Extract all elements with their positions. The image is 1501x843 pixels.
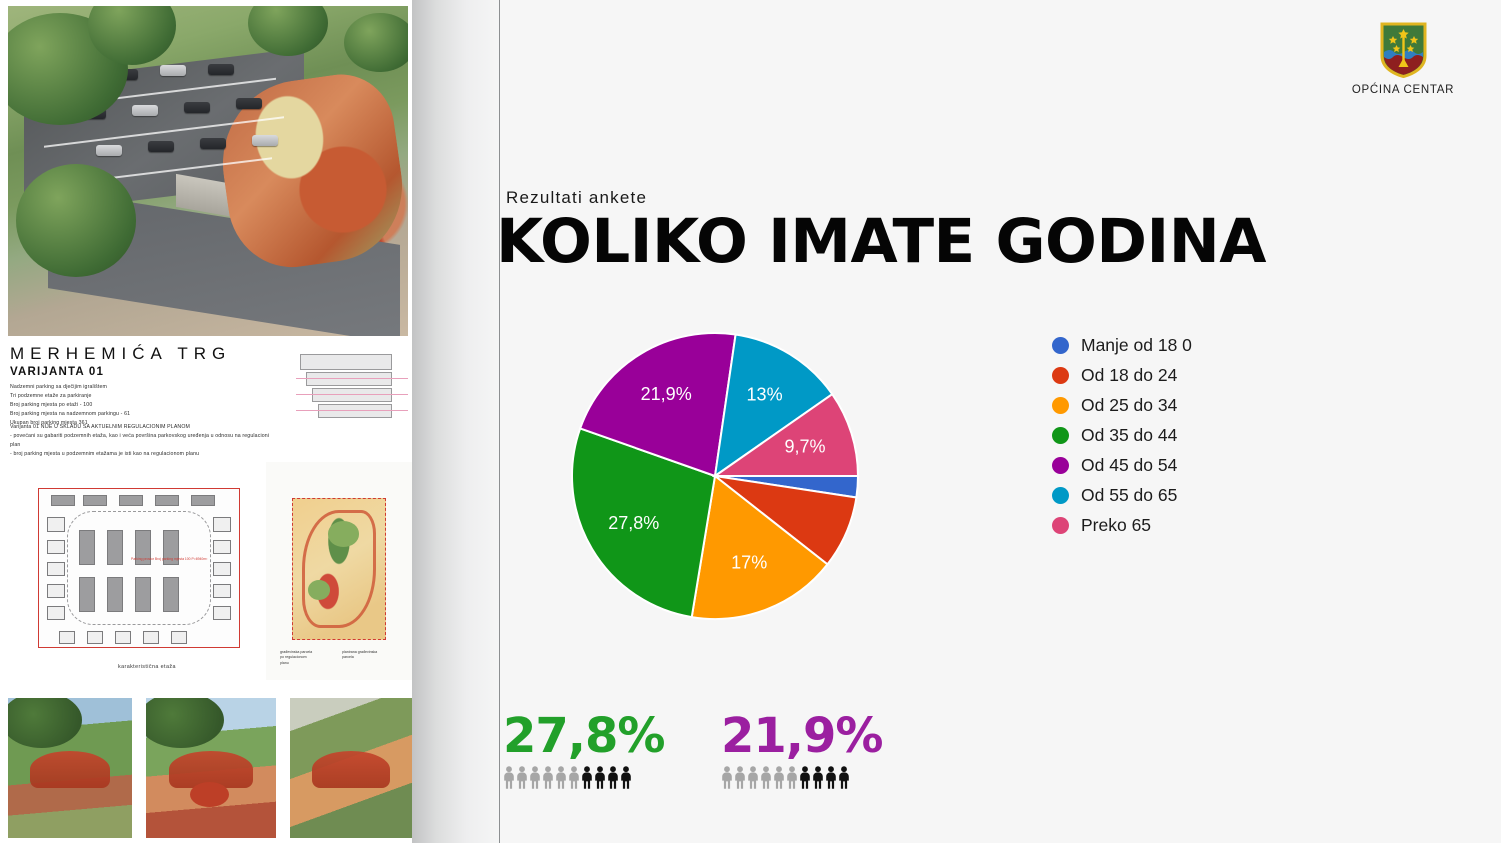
site-plan: građevinska parcela po regulacionom plan… <box>266 462 412 680</box>
car <box>184 102 210 113</box>
pictogram-person-empty <box>786 766 798 789</box>
legend-label: Od 35 do 44 <box>1081 425 1177 446</box>
document-subtitle: VARIJANTA 01 <box>10 366 104 378</box>
legend-color-swatch <box>1052 367 1069 384</box>
parking-stall <box>47 584 65 598</box>
green-area <box>308 580 330 600</box>
car <box>236 98 262 109</box>
playground-equipment <box>312 751 390 787</box>
green-area <box>328 521 359 546</box>
tree <box>16 164 136 276</box>
spec-line: Nadzemni parking sa dječijim igralištem <box>10 383 260 392</box>
parking-stall <box>107 530 123 565</box>
pictogram-person-empty <box>747 766 759 789</box>
legend-item-6[interactable]: Preko 65 <box>1052 510 1192 540</box>
car <box>252 135 278 146</box>
pictogram-person-empty <box>555 766 567 789</box>
spec-line: Broj parking mjesta na nadzemnom parking… <box>10 410 260 419</box>
parking-stall <box>79 530 95 565</box>
pie-slice-label: 27,8% <box>608 513 659 533</box>
parking-stall <box>191 495 215 506</box>
legend-label: Manje od 18 0 <box>1081 335 1192 356</box>
annotation-line <box>296 378 408 379</box>
parking-stall <box>47 517 65 531</box>
pictogram-person-empty <box>568 766 580 789</box>
pictogram-person-empty <box>503 766 515 789</box>
legend-label: Od 45 do 54 <box>1081 455 1177 476</box>
legend-label: Od 55 do 65 <box>1081 485 1177 506</box>
pictogram-person-empty <box>542 766 554 789</box>
legend-item-2[interactable]: Od 25 do 34 <box>1052 390 1192 420</box>
parking-stall <box>87 631 103 644</box>
parking-stall <box>213 584 231 598</box>
legend-label: Od 18 do 24 <box>1081 365 1177 386</box>
logo: OPĆINA CENTAR <box>1330 22 1476 96</box>
drawing-legend-item: planirana građevinska parcela <box>342 650 382 661</box>
parking-stall <box>79 577 95 612</box>
pictogram-person-empty <box>529 766 541 789</box>
pictogram-person-filled <box>838 766 850 789</box>
opcina-centar-coat-of-arms-icon <box>1380 22 1427 78</box>
document-note-block: Varijanta 01 NIJE U SKLADU SA AKTUELNIM … <box>10 423 272 459</box>
pie-slice-label: 13% <box>747 384 783 404</box>
document-preview-panel: MERHEMIĆA TRG VARIJANTA 01 Nadzemni park… <box>0 0 412 843</box>
pie-slice-label: 21,9% <box>641 384 692 404</box>
parking-stall <box>163 577 179 612</box>
parking-stall <box>213 540 231 554</box>
parking-stall <box>83 495 107 506</box>
legend-item-5[interactable]: Od 55 do 65 <box>1052 480 1192 510</box>
tree-canopy <box>8 698 82 748</box>
parking-stall <box>143 631 159 644</box>
spec-line: Tri podzemne etaže za parkiranje <box>10 392 260 401</box>
tree <box>248 6 328 56</box>
pie-chart: 17%27,8%21,9%13%9,7% <box>569 330 861 622</box>
slide-headline: KOLIKO IMATE GODINA <box>496 206 1266 277</box>
pictogram-person-empty <box>734 766 746 789</box>
legend-color-swatch <box>1052 427 1069 444</box>
playground-photo-1 <box>8 698 132 838</box>
legend-color-swatch <box>1052 457 1069 474</box>
legend-item-1[interactable]: Od 18 do 24 <box>1052 360 1192 390</box>
parking-stall <box>47 606 65 620</box>
parking-stall <box>115 631 131 644</box>
pictogram-person-empty <box>773 766 785 789</box>
car <box>96 145 122 156</box>
presentation-slide: OPĆINA CENTAR Rezultati ankete KOLIKO IM… <box>500 0 1501 843</box>
parking-stall <box>119 495 143 506</box>
section-drawing <box>296 348 408 434</box>
chart-legend: Manje od 18 0Od 18 do 24Od 25 do 34Od 35… <box>1052 330 1192 540</box>
pictogram-person-filled <box>620 766 632 789</box>
site-boundary <box>292 498 386 640</box>
logo-label: OPĆINA CENTAR <box>1330 84 1476 96</box>
car <box>160 65 186 76</box>
legend-color-swatch <box>1052 397 1069 414</box>
car <box>148 141 174 152</box>
slide-eyebrow: Rezultati ankete <box>506 188 647 208</box>
stat-value: 21,9% <box>721 712 883 760</box>
parking-stall <box>47 562 65 576</box>
annotation-line <box>296 410 408 411</box>
pictogram-person-filled <box>812 766 824 789</box>
legend-item-3[interactable]: Od 35 do 44 <box>1052 420 1192 450</box>
parking-stall <box>135 577 151 612</box>
note-line: - broj parking mjesta u podzemnim etažam… <box>10 450 272 459</box>
tree <box>344 13 408 72</box>
spec-line: Broj parking mjesta po etaži - 100 <box>10 401 260 410</box>
parking-stall <box>213 562 231 576</box>
parking-stall <box>155 495 179 506</box>
pictogram-person-empty <box>516 766 528 789</box>
pictogram-row <box>721 766 883 789</box>
panel-shadow <box>412 0 500 843</box>
drawing-legend-item: građevinska parcela po regulacionom plan… <box>280 650 314 666</box>
pie-chart-svg[interactable]: 17%27,8%21,9%13%9,7% <box>569 330 861 622</box>
legend-item-4[interactable]: Od 45 do 54 <box>1052 450 1192 480</box>
parking-stall <box>59 631 75 644</box>
parking-stall <box>213 517 231 531</box>
note-line: Varijanta 01 NIJE U SKLADU SA AKTUELNIM … <box>10 423 272 432</box>
parking-stall <box>107 577 123 612</box>
parking-stall <box>171 631 187 644</box>
pictogram-person-filled <box>581 766 593 789</box>
legend-color-swatch <box>1052 517 1069 534</box>
car <box>208 64 234 75</box>
pictogram-person-filled <box>607 766 619 789</box>
document-spec-list: Nadzemni parking sa dječijim igralištem … <box>10 383 260 428</box>
carousel <box>190 782 229 807</box>
pictogram-person-filled <box>825 766 837 789</box>
legend-color-swatch <box>1052 487 1069 504</box>
playground-equipment <box>30 751 109 787</box>
plan-red-annotation: Parking prostor Broj parking mjesta 100 … <box>131 557 207 562</box>
pictogram-row <box>503 766 665 789</box>
plan-caption: karakteristična etaža <box>118 664 176 670</box>
playground-photo-2 <box>146 698 276 838</box>
hero-aerial-render <box>8 6 408 336</box>
stat-callouts: 27,8% 21,9% <box>503 712 1023 812</box>
plan-boundary: Parking prostor Broj parking mjesta 100 … <box>38 488 240 648</box>
note-line: - povećani su gabariti podzemnih etaža, … <box>10 432 272 450</box>
parking-stall <box>47 540 65 554</box>
pictogram-person-empty <box>760 766 772 789</box>
pictogram-person-empty <box>721 766 733 789</box>
pie-slice-label: 17% <box>731 553 767 573</box>
car <box>132 105 158 116</box>
legend-color-swatch <box>1052 337 1069 354</box>
legend-item-0[interactable]: Manje od 18 0 <box>1052 330 1192 360</box>
stat-value: 27,8% <box>503 712 665 760</box>
legend-label: Od 25 do 34 <box>1081 395 1177 416</box>
document-title: MERHEMIĆA TRG <box>10 344 231 364</box>
legend-label: Preko 65 <box>1081 515 1151 536</box>
annotation-line <box>296 394 408 395</box>
car <box>200 138 226 149</box>
tree-canopy <box>146 698 224 748</box>
parking-stall <box>213 606 231 620</box>
stat-callout: 27,8% <box>503 712 665 789</box>
pictogram-person-filled <box>799 766 811 789</box>
garage-floor-plan: Parking prostor Broj parking mjesta 100 … <box>8 462 260 680</box>
stat-callout: 21,9% <box>721 712 883 789</box>
playground-photo-3 <box>290 698 412 838</box>
parking-stall <box>51 495 75 506</box>
pictogram-person-filled <box>594 766 606 789</box>
pie-slice-label: 9,7% <box>785 436 826 456</box>
